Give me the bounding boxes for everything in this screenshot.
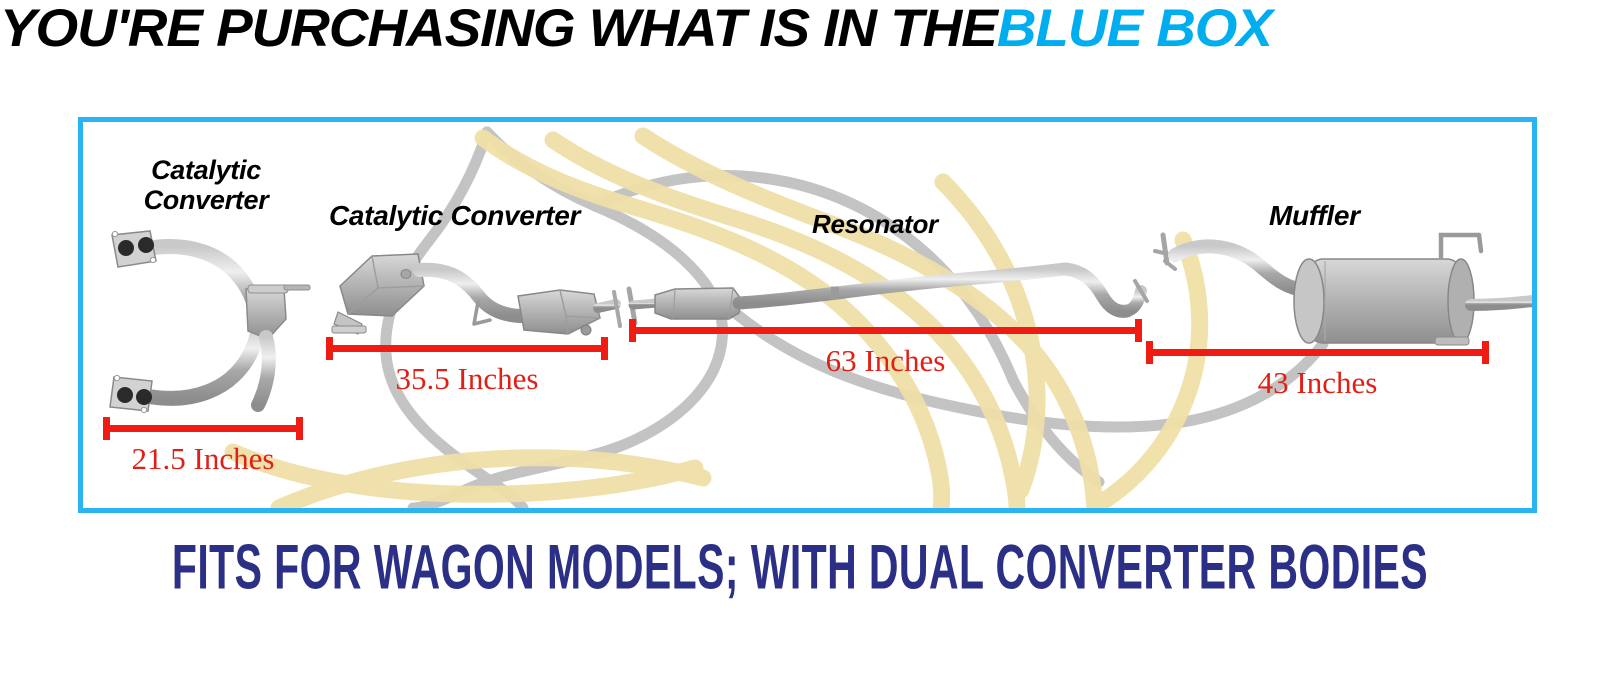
product-listing-graphic: YOU'RE PURCHASING WHAT IS IN THE BLUE BO… (0, 0, 1600, 685)
muffler-with-tailpipe (1141, 217, 1536, 347)
label-resonator: Resonator (812, 210, 938, 239)
footer-fitment-note: FITS FOR WAGON MODELS; WITH DUAL CONVERT… (0, 538, 1600, 608)
dimension-cap-right (296, 417, 303, 440)
dimension-cap-left (326, 337, 333, 360)
front-catalytic-converter-ypipe (98, 227, 313, 417)
dimension-label-resonator: 63 Inches (629, 343, 1142, 379)
label-catalytic-converter-front: Catalytic Converter (106, 155, 306, 215)
header-plain-text: YOU'RE PURCHASING WHAT IS IN THE (0, 0, 997, 58)
blue-box-container: 21.5 Inches 35.5 Inches 63 Inches (78, 117, 1537, 513)
dimension-cap-left (103, 417, 110, 440)
label-muffler: Muffler (1269, 200, 1360, 231)
dimension-label-dual-converter: 35.5 Inches (326, 361, 608, 397)
dual-body-catalytic-converter-assembly (328, 242, 623, 352)
resonator-with-pipe (623, 257, 1153, 337)
dimension-cap-right (1135, 319, 1142, 342)
dimension-label-muffler: 43 Inches (1146, 365, 1489, 401)
dimension-cap-left (1146, 341, 1153, 364)
dimension-cap-left (629, 319, 636, 342)
dimension-label-front-converter: 21.5 Inches (103, 441, 303, 477)
label-catalytic-converter-dual: Catalytic Converter (329, 200, 580, 231)
footer-fitment-text: FITS FOR WAGON MODELS; WITH DUAL CONVERT… (172, 530, 1428, 603)
dimension-cap-right (1482, 341, 1489, 364)
header-banner: YOU'RE PURCHASING WHAT IS IN THE BLUE BO… (0, 0, 1600, 58)
header-highlight-text: BLUE BOX (997, 0, 1272, 58)
dimension-cap-right (601, 337, 608, 360)
